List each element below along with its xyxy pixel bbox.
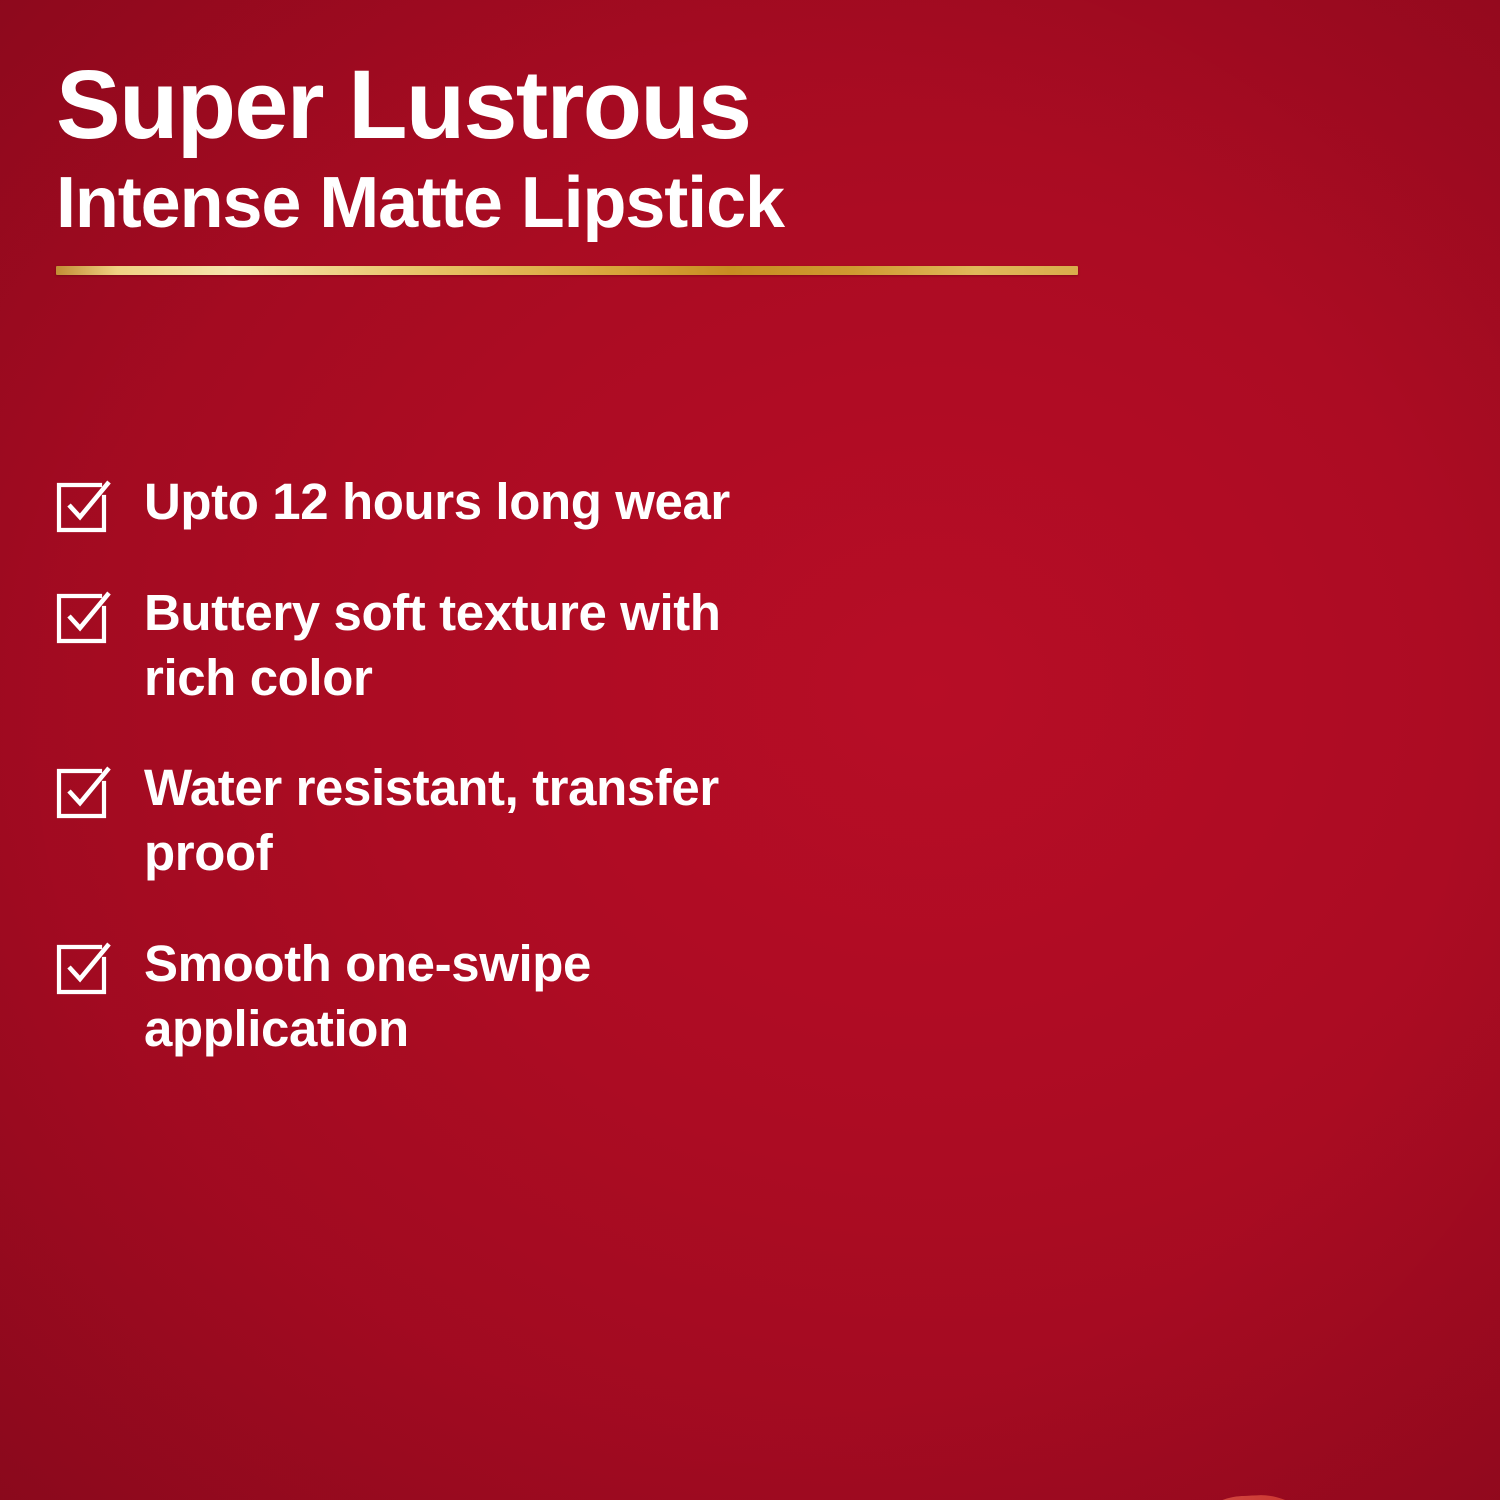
list-item: Buttery soft texture with rich color xyxy=(56,581,846,711)
list-item: Water resistant, transfer proof xyxy=(56,756,846,886)
product-feature-banner: Super Lustrous Intense Matte Lipstick Up… xyxy=(0,0,1500,1500)
feature-label: Smooth one-swipe application xyxy=(144,932,784,1062)
feature-label: Upto 12 hours long wear xyxy=(144,470,730,535)
headline-block: Super Lustrous Intense Matte Lipstick xyxy=(56,56,1116,275)
feature-label: Buttery soft texture with rich color xyxy=(144,581,784,711)
page-subtitle: Intense Matte Lipstick xyxy=(56,163,1116,244)
checkbox-checked-icon xyxy=(56,589,112,645)
feature-list: Upto 12 hours long wear Buttery soft tex… xyxy=(56,470,846,1061)
page-title: Super Lustrous xyxy=(56,56,1116,155)
checkbox-checked-icon xyxy=(56,940,112,996)
feature-label: Water resistant, transfer proof xyxy=(144,756,784,886)
list-item: Upto 12 hours long wear xyxy=(56,470,846,535)
list-item: Smooth one-swipe application xyxy=(56,932,846,1062)
checkbox-checked-icon xyxy=(56,478,112,534)
gold-divider xyxy=(56,266,1078,275)
checkbox-checked-icon xyxy=(56,764,112,820)
